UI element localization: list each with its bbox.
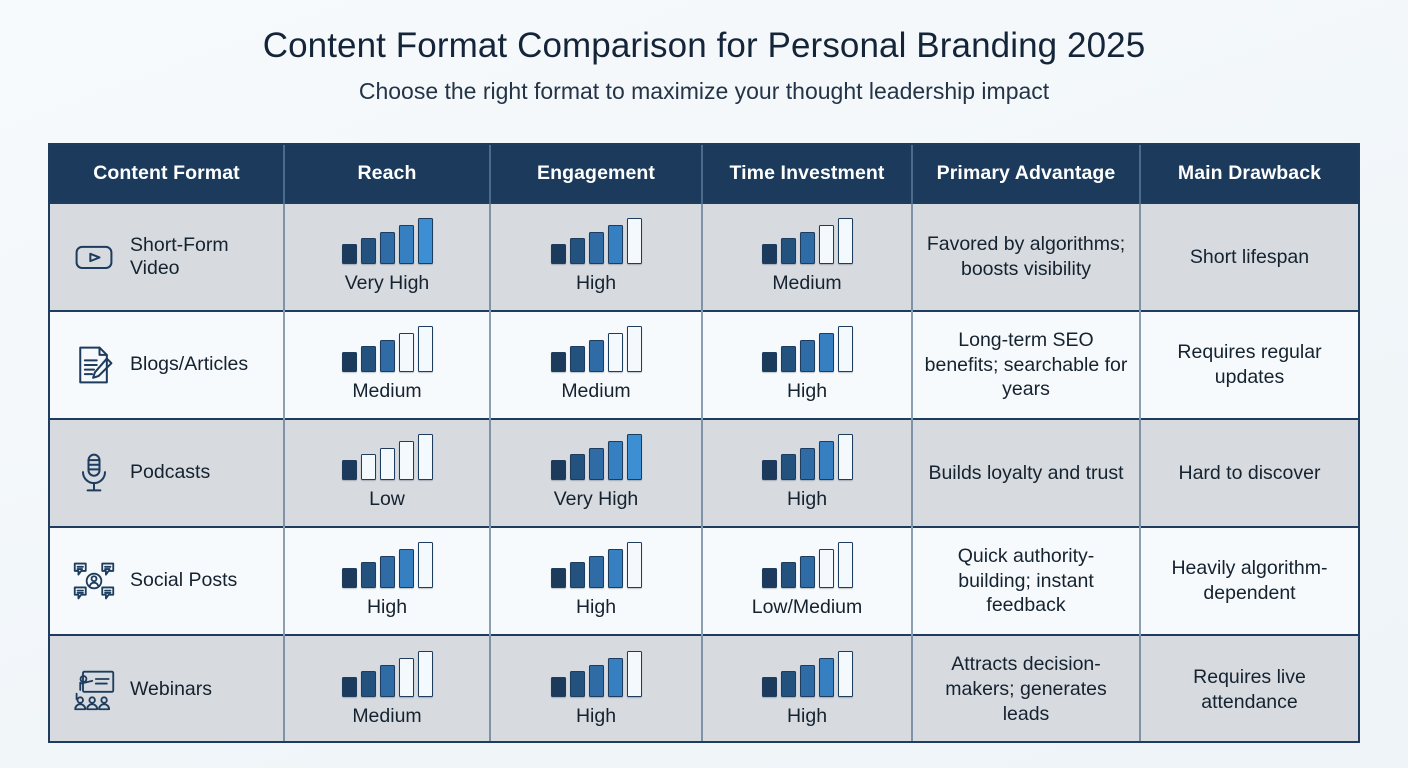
rating-bar [570, 238, 585, 264]
time-investment-rating: High [713, 326, 901, 404]
rating-label: Very High [345, 271, 430, 296]
table-row: Podcasts Low Very High High Builds loyal… [50, 419, 1358, 527]
rating-bar [551, 460, 566, 480]
format-cell: Webinars [60, 668, 273, 712]
rating-bar [627, 651, 642, 697]
advantage-text: Long-term SEO benefits; searchable for y… [923, 328, 1129, 403]
advantage-text: Quick authority-building; instant feedba… [923, 544, 1129, 619]
rating-bars [342, 218, 433, 264]
rating-bars [551, 326, 642, 372]
rating-bar [380, 556, 395, 588]
rating-bar [608, 441, 623, 480]
table-row: Webinars Medium High High Attracts decis… [50, 635, 1358, 743]
rating-bar [627, 326, 642, 372]
comparison-table-container: Content Format Reach Engagement Time Inv… [48, 143, 1360, 743]
rating-bars [342, 542, 433, 588]
rating-bars [762, 651, 853, 697]
rating-bar [342, 352, 357, 372]
rating-label: Medium [561, 379, 630, 404]
rating-label: High [787, 487, 827, 512]
table-body: Short-Form Video Very High High Medium F… [50, 203, 1358, 743]
advantage-text: Attracts decision-makers; generates lead… [923, 652, 1129, 727]
cell-reach: High [284, 527, 490, 635]
rating-label: Medium [352, 704, 421, 729]
cell-main-drawback: Hard to discover [1140, 419, 1358, 527]
rating-bar [399, 441, 414, 480]
cell-time-investment: High [702, 311, 912, 419]
time-investment-rating: High [713, 434, 901, 512]
format-label: Podcasts [130, 461, 210, 484]
rating-bar [361, 454, 376, 480]
cell-time-investment: Low/Medium [702, 527, 912, 635]
rating-bars [551, 218, 642, 264]
rating-bar [781, 238, 796, 264]
engagement-rating: Very High [501, 434, 691, 512]
format-cell: Social Posts [60, 559, 273, 603]
cell-primary-advantage: Attracts decision-makers; generates lead… [912, 635, 1140, 743]
cell-time-investment: Medium [702, 203, 912, 311]
rating-bar [608, 333, 623, 372]
rating-bar [380, 448, 395, 480]
rating-bar [418, 218, 433, 264]
rating-label: Medium [352, 379, 421, 404]
rating-bar [589, 340, 604, 372]
rating-bar [781, 562, 796, 588]
rating-bar [762, 568, 777, 588]
rating-bar [399, 333, 414, 372]
rating-label: Low [369, 487, 405, 512]
time-investment-rating: Low/Medium [713, 542, 901, 620]
cell-content-format: Webinars [50, 635, 284, 743]
rating-bar [762, 352, 777, 372]
rating-bar [342, 677, 357, 697]
rating-bar [800, 340, 815, 372]
rating-bar [361, 238, 376, 264]
microphone-icon [72, 451, 116, 495]
cell-engagement: High [490, 203, 702, 311]
cell-reach: Very High [284, 203, 490, 311]
rating-bar [838, 651, 853, 697]
reach-rating: Low [295, 434, 479, 512]
rating-bar [819, 658, 834, 697]
cell-content-format: Social Posts [50, 527, 284, 635]
rating-bar [551, 677, 566, 697]
drawback-text: Short lifespan [1151, 245, 1348, 270]
rating-bar [800, 448, 815, 480]
engagement-rating: High [501, 218, 691, 296]
rating-bar [627, 434, 642, 480]
rating-bar [800, 556, 815, 588]
rating-bar [570, 454, 585, 480]
rating-bar [819, 225, 834, 264]
rating-bar [838, 434, 853, 480]
rating-bar [608, 658, 623, 697]
reach-rating: High [295, 542, 479, 620]
rating-bars [342, 434, 433, 480]
document-pencil-icon [72, 343, 116, 387]
rating-bar [762, 460, 777, 480]
rating-label: Low/Medium [752, 595, 863, 620]
cell-main-drawback: Short lifespan [1140, 203, 1358, 311]
table-row: Short-Form Video Very High High Medium F… [50, 203, 1358, 311]
cell-engagement: High [490, 635, 702, 743]
rating-bar [399, 549, 414, 588]
column-header-engagement: Engagement [490, 145, 702, 203]
cell-primary-advantage: Long-term SEO benefits; searchable for y… [912, 311, 1140, 419]
reach-rating: Medium [295, 326, 479, 404]
cell-engagement: Very High [490, 419, 702, 527]
video-play-icon [72, 235, 116, 279]
rating-bar [361, 671, 376, 697]
rating-bar [551, 568, 566, 588]
cell-primary-advantage: Favored by algorithms; boosts visibility [912, 203, 1140, 311]
cell-engagement: Medium [490, 311, 702, 419]
page-title: Content Format Comparison for Personal B… [0, 0, 1408, 66]
column-header-primary-advantage: Primary Advantage [912, 145, 1140, 203]
rating-bar [781, 346, 796, 372]
cell-content-format: Blogs/Articles [50, 311, 284, 419]
format-cell: Blogs/Articles [60, 343, 273, 387]
time-investment-rating: Medium [713, 218, 901, 296]
rating-bar [800, 665, 815, 697]
rating-bar [418, 542, 433, 588]
rating-bar [380, 665, 395, 697]
engagement-rating: High [501, 651, 691, 729]
rating-bar [838, 218, 853, 264]
rating-bars [762, 326, 853, 372]
cell-time-investment: High [702, 419, 912, 527]
format-cell: Podcasts [60, 451, 273, 495]
drawback-text: Hard to discover [1151, 461, 1348, 486]
cell-main-drawback: Heavily algorithm-dependent [1140, 527, 1358, 635]
rating-bars [762, 434, 853, 480]
rating-bars [762, 218, 853, 264]
rating-bar [570, 671, 585, 697]
rating-bar [551, 244, 566, 264]
presentation-icon [72, 668, 116, 712]
format-cell: Short-Form Video [60, 234, 273, 281]
rating-bar [589, 232, 604, 264]
rating-bars [551, 651, 642, 697]
social-network-icon [72, 559, 116, 603]
rating-bar [819, 549, 834, 588]
rating-bar [380, 232, 395, 264]
cell-content-format: Podcasts [50, 419, 284, 527]
drawback-text: Heavily algorithm-dependent [1151, 556, 1348, 606]
rating-bar [342, 568, 357, 588]
rating-bar [589, 448, 604, 480]
comparison-table: Content Format Reach Engagement Time Inv… [50, 145, 1358, 743]
page-subtitle: Choose the right format to maximize your… [0, 66, 1408, 106]
rating-bar [418, 326, 433, 372]
rating-bar [819, 441, 834, 480]
cell-reach: Medium [284, 311, 490, 419]
cell-content-format: Short-Form Video [50, 203, 284, 311]
cell-main-drawback: Requires regular updates [1140, 311, 1358, 419]
cell-reach: Low [284, 419, 490, 527]
column-header-time-investment: Time Investment [702, 145, 912, 203]
rating-label: High [576, 271, 616, 296]
format-label: Webinars [130, 678, 212, 701]
rating-bar [361, 562, 376, 588]
rating-bar [380, 340, 395, 372]
rating-bar [781, 454, 796, 480]
format-label: Blogs/Articles [130, 353, 248, 376]
rating-bar [800, 232, 815, 264]
cell-primary-advantage: Quick authority-building; instant feedba… [912, 527, 1140, 635]
rating-bar [762, 677, 777, 697]
engagement-rating: High [501, 542, 691, 620]
advantage-text: Builds loyalty and trust [923, 461, 1129, 486]
infographic-page: Content Format Comparison for Personal B… [0, 0, 1408, 768]
rating-bar [838, 326, 853, 372]
rating-bar [570, 346, 585, 372]
rating-label: High [787, 704, 827, 729]
rating-label: High [787, 379, 827, 404]
rating-bar [570, 562, 585, 588]
rating-bar [781, 671, 796, 697]
table-header: Content Format Reach Engagement Time Inv… [50, 145, 1358, 203]
rating-label: Very High [554, 487, 639, 512]
rating-bar [418, 434, 433, 480]
rating-bar [342, 244, 357, 264]
rating-label: High [576, 704, 616, 729]
rating-bar [608, 549, 623, 588]
rating-bar [589, 665, 604, 697]
rating-label: High [576, 595, 616, 620]
rating-bars [762, 542, 853, 588]
cell-primary-advantage: Builds loyalty and trust [912, 419, 1140, 527]
drawback-text: Requires regular updates [1151, 340, 1348, 390]
cell-main-drawback: Requires live attendance [1140, 635, 1358, 743]
rating-bars [551, 434, 642, 480]
column-header-main-drawback: Main Drawback [1140, 145, 1358, 203]
rating-bar [762, 244, 777, 264]
time-investment-rating: High [713, 651, 901, 729]
reach-rating: Very High [295, 218, 479, 296]
rating-bars [342, 651, 433, 697]
rating-bar [627, 218, 642, 264]
rating-bar [608, 225, 623, 264]
cell-engagement: High [490, 527, 702, 635]
reach-rating: Medium [295, 651, 479, 729]
format-label: Short-Form Video [130, 234, 273, 281]
rating-bar [418, 651, 433, 697]
rating-bar [589, 556, 604, 588]
advantage-text: Favored by algorithms; boosts visibility [923, 232, 1129, 282]
cell-reach: Medium [284, 635, 490, 743]
rating-bar [819, 333, 834, 372]
rating-bar [838, 542, 853, 588]
column-header-reach: Reach [284, 145, 490, 203]
rating-bar [551, 352, 566, 372]
rating-bar [399, 225, 414, 264]
table-row: Social Posts High High Low/Medium Quick … [50, 527, 1358, 635]
format-label: Social Posts [130, 569, 237, 592]
cell-time-investment: High [702, 635, 912, 743]
table-header-row: Content Format Reach Engagement Time Inv… [50, 145, 1358, 203]
rating-bars [342, 326, 433, 372]
drawback-text: Requires live attendance [1151, 665, 1348, 715]
column-header-content-format: Content Format [50, 145, 284, 203]
rating-bar [627, 542, 642, 588]
rating-bar [399, 658, 414, 697]
engagement-rating: Medium [501, 326, 691, 404]
rating-bar [342, 460, 357, 480]
rating-label: High [367, 595, 407, 620]
table-row: Blogs/Articles Medium Medium High Long-t… [50, 311, 1358, 419]
rating-bar [361, 346, 376, 372]
rating-bars [551, 542, 642, 588]
rating-label: Medium [772, 271, 841, 296]
